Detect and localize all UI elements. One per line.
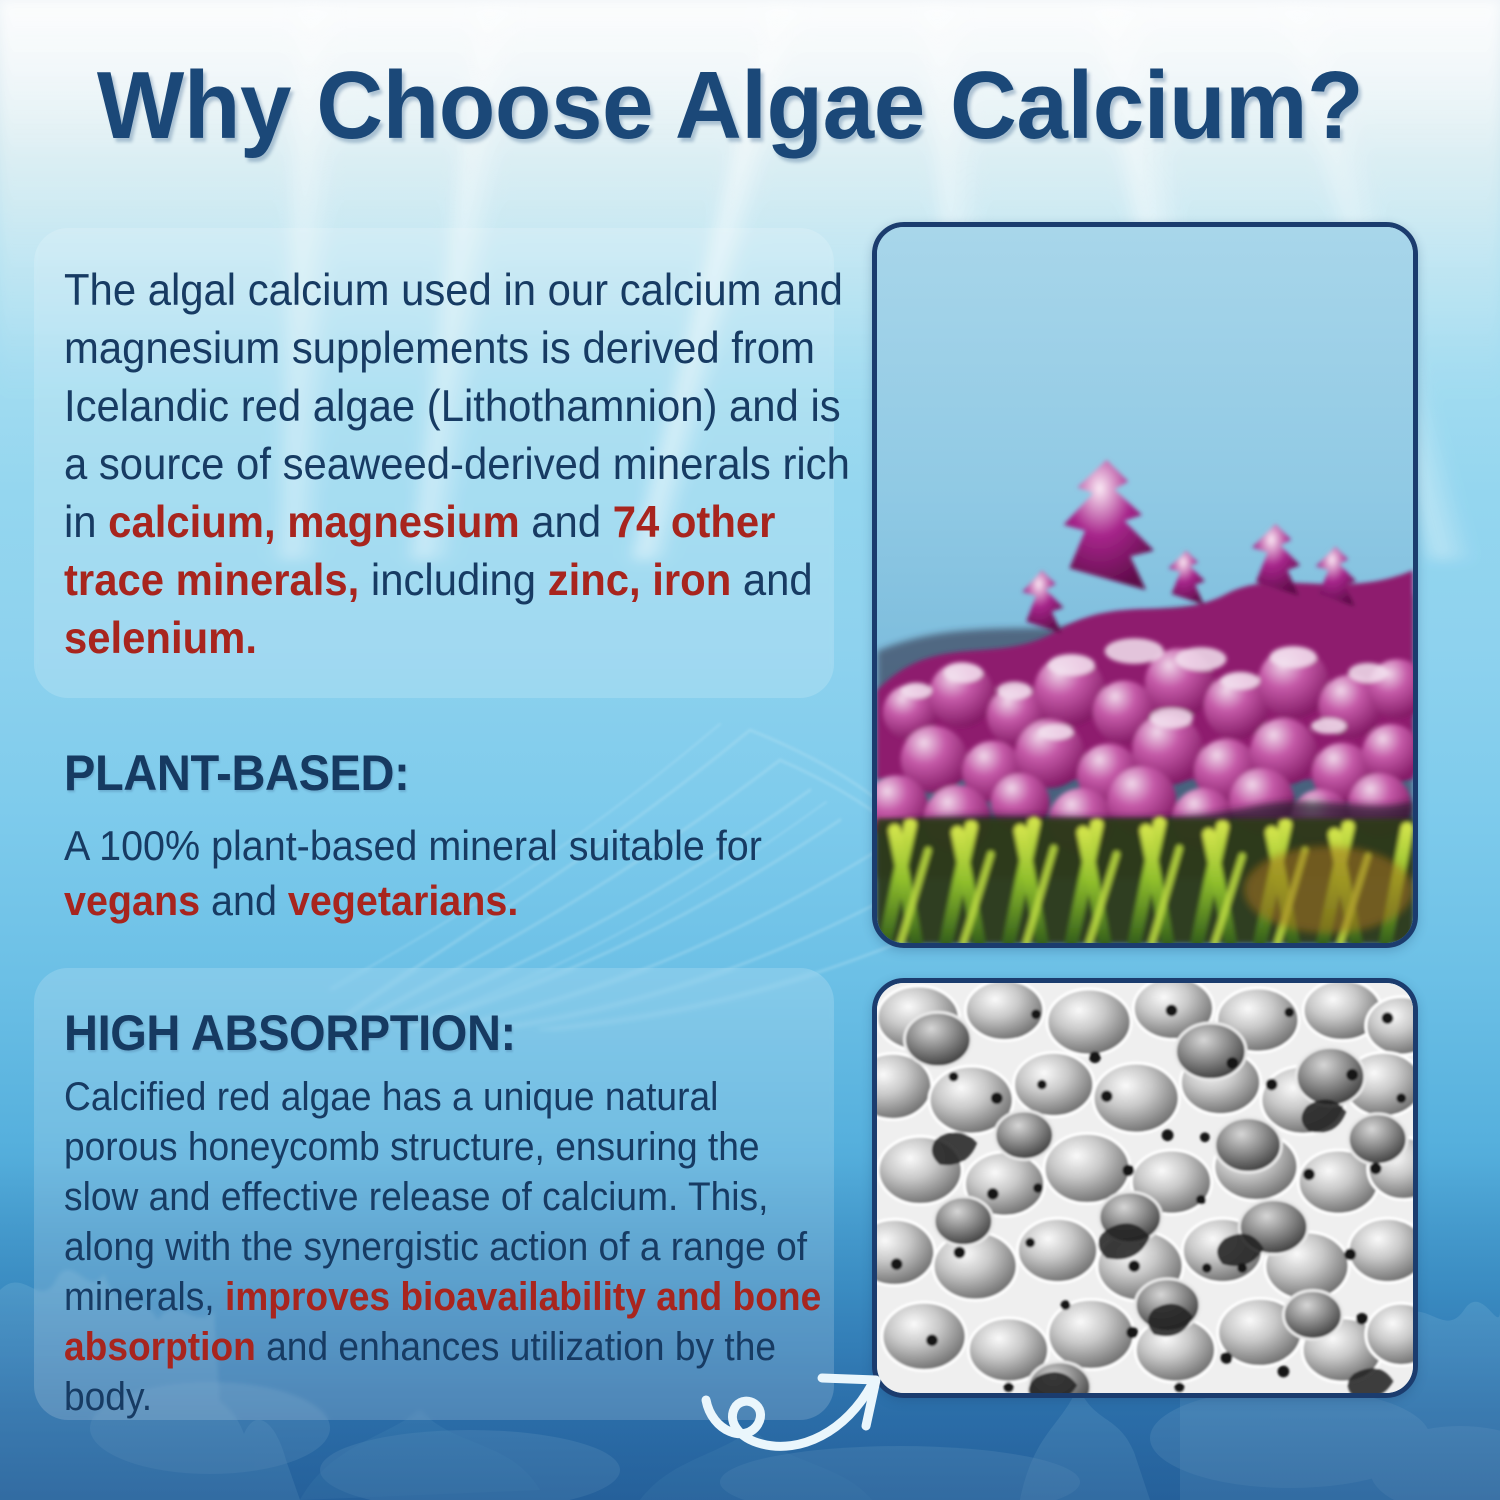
section-body-plant-based: A 100% plant-based mineral suitable for … [64, 818, 844, 928]
curved-arrow [700, 1340, 900, 1470]
highlighted-term: zinc, iron [548, 556, 732, 605]
highlighted-term: selenium. [64, 614, 257, 663]
infographic-canvas: Why Choose Algae Calcium? The algal calc… [0, 0, 1500, 1500]
section-heading-high-absorption: HIGH ABSORPTION: [64, 1008, 516, 1058]
purple-coralline-red-algae-photo [872, 222, 1418, 948]
honeycomb-microstructure-photo [872, 978, 1418, 1398]
section-heading-plant-based: PLANT-BASED: [64, 748, 409, 798]
highlighted-term: vegans [64, 877, 200, 924]
page-title: Why Choose Algae Calcium? [26, 58, 1435, 154]
highlighted-term: calcium, magnesium [108, 498, 519, 547]
intro-paragraph: The algal calcium used in our calcium an… [64, 262, 854, 668]
highlighted-term: vegetarians. [288, 877, 518, 924]
